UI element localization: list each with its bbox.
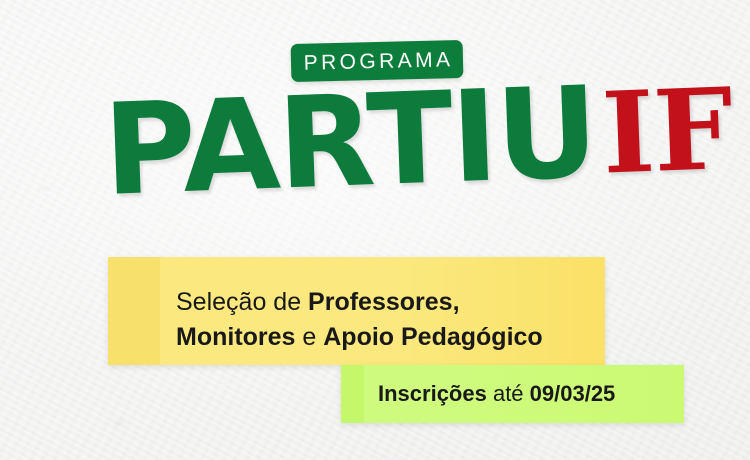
wordmark-if-text: IF [600,74,734,191]
deadline-connector: até [487,381,530,406]
deadline-label: Inscrições [378,381,487,406]
subtitle-text-block: Seleção de Professores, Monitores e Apoi… [176,285,591,355]
subtitle-line-1-bold: Professores, [308,288,459,316]
deadline-text: Inscrições até 09/03/25 [341,383,615,405]
promotional-banner: PROGRAMA Partiu IF Seleção de Professore… [0,0,750,460]
subtitle-banner: Seleção de Professores, Monitores e Apoi… [108,257,605,365]
subtitle-line-2-conjunction: e [295,323,323,351]
subtitle-line-1: Seleção de Professores, [176,285,591,320]
subtitle-line-2: Monitores e Apoio Pedagógico [176,320,591,355]
subtitle-line-1-regular: Seleção de [176,288,308,316]
deadline-date: 09/03/25 [530,381,616,406]
deadline-banner: Inscrições até 09/03/25 [341,365,684,423]
subtitle-line-2-bold-monitores: Monitores [176,323,295,351]
wordmark-partiu-if: Partiu IF [0,64,750,241]
subtitle-line-2-bold-apoio: Apoio Pedagógico [323,323,542,351]
wordmark-partiu-text: Partiu [101,70,598,214]
